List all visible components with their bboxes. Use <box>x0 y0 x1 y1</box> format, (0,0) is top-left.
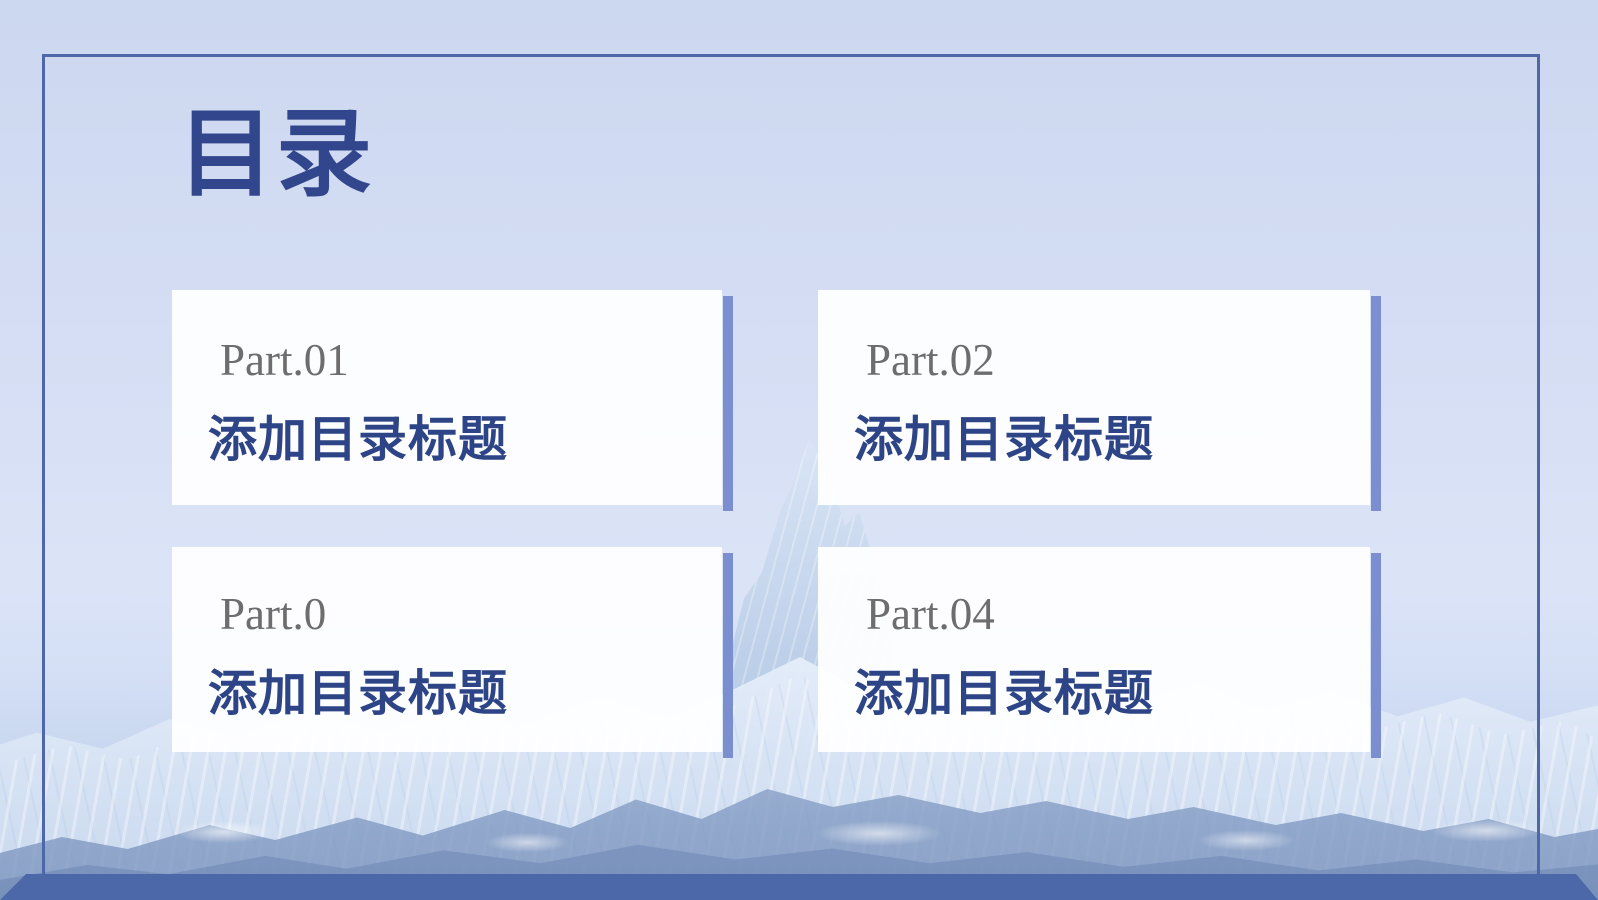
card-accent-bar <box>1371 296 1381 511</box>
card-heading: 添加目录标题 <box>854 415 1154 464</box>
card-accent-bar <box>723 296 733 511</box>
page-title: 目录 <box>178 107 374 203</box>
card-part-label: Part.02 <box>866 338 995 383</box>
presentation-slide: 目录 Part.01 添加目录标题 Part.02 添加目录标题 Part.0 … <box>0 0 1598 900</box>
card-part-label: Part.0 <box>220 592 326 637</box>
card-body: Part.01 添加目录标题 <box>172 290 722 505</box>
bottom-accent-bar <box>0 874 1598 900</box>
card-body: Part.02 添加目录标题 <box>818 290 1370 505</box>
card-body: Part.0 添加目录标题 <box>172 547 722 752</box>
card-part-label: Part.04 <box>866 592 995 637</box>
card-body: Part.04 添加目录标题 <box>818 547 1370 752</box>
toc-card-2[interactable]: Part.02 添加目录标题 <box>818 290 1370 505</box>
card-heading: 添加目录标题 <box>854 669 1154 718</box>
card-accent-bar <box>1371 553 1381 758</box>
card-heading: 添加目录标题 <box>208 415 508 464</box>
card-accent-bar <box>723 553 733 758</box>
card-heading: 添加目录标题 <box>208 669 508 718</box>
toc-card-3[interactable]: Part.0 添加目录标题 <box>172 547 722 752</box>
toc-card-1[interactable]: Part.01 添加目录标题 <box>172 290 722 505</box>
toc-card-4[interactable]: Part.04 添加目录标题 <box>818 547 1370 752</box>
card-part-label: Part.01 <box>220 338 349 383</box>
